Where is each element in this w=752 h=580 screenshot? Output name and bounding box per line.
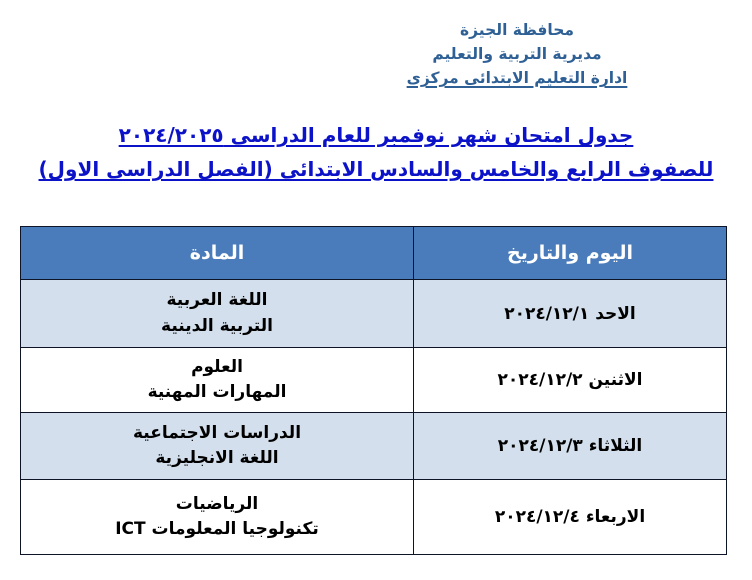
cell-date: الاثنين ٢٠٢٤/١٢/٢ xyxy=(414,348,727,413)
title-line-exam-schedule: جدول امتحان شهر نوفمبر للعام الدراسى ٢٠٢… xyxy=(0,118,752,152)
letterhead: محافظة الجيزة مديرية التربية والتعليم اد… xyxy=(307,18,727,90)
subject-line-primary: اللغة العربية xyxy=(27,288,407,313)
table-header-row: اليوم والتاريخ المادة xyxy=(21,227,727,280)
subject-line-primary: الرياضيات xyxy=(27,492,407,517)
cell-subject: الدراسات الاجتماعية اللغة الانجليزية xyxy=(21,413,414,480)
cell-subject: العلوم المهارات المهنية xyxy=(21,348,414,413)
letterhead-administration: ادارة التعليم الابتدائى مركزى xyxy=(307,66,727,90)
subject-line-secondary: تكنولوجيا المعلومات ICT xyxy=(27,517,407,542)
subject-line-primary: العلوم xyxy=(27,355,407,380)
cell-subject: اللغة العربية التربية الدينية xyxy=(21,280,414,348)
page-title: جدول امتحان شهر نوفمبر للعام الدراسى ٢٠٢… xyxy=(0,118,752,187)
table-row: الاثنين ٢٠٢٤/١٢/٢ العلوم المهارات المهني… xyxy=(21,348,727,413)
letterhead-directorate: مديرية التربية والتعليم xyxy=(307,42,727,66)
column-header-subject: المادة xyxy=(21,227,414,280)
title-line-grades: للصفوف الرابع والخامس والسادس الابتدائى … xyxy=(0,152,752,186)
table-row: الثلاثاء ٢٠٢٤/١٢/٣ الدراسات الاجتماعية ا… xyxy=(21,413,727,480)
table-row: الاربعاء ٢٠٢٤/١٢/٤ الرياضيات تكنولوجيا ا… xyxy=(21,480,727,555)
column-header-day-and-date: اليوم والتاريخ xyxy=(414,227,727,280)
letterhead-governorate: محافظة الجيزة xyxy=(307,18,727,42)
cell-date: الاحد ٢٠٢٤/١٢/١ xyxy=(414,280,727,348)
table-header: اليوم والتاريخ المادة xyxy=(21,227,727,280)
exam-schedule-table: اليوم والتاريخ المادة الاحد ٢٠٢٤/١٢/١ ال… xyxy=(20,226,727,555)
subject-line-secondary: التربية الدينية xyxy=(27,314,407,339)
cell-subject: الرياضيات تكنولوجيا المعلومات ICT xyxy=(21,480,414,555)
table-body: الاحد ٢٠٢٤/١٢/١ اللغة العربية التربية ال… xyxy=(21,280,727,555)
exam-schedule-table-container: اليوم والتاريخ المادة الاحد ٢٠٢٤/١٢/١ ال… xyxy=(21,226,727,555)
cell-date: الثلاثاء ٢٠٢٤/١٢/٣ xyxy=(414,413,727,480)
table-row: الاحد ٢٠٢٤/١٢/١ اللغة العربية التربية ال… xyxy=(21,280,727,348)
cell-date: الاربعاء ٢٠٢٤/١٢/٤ xyxy=(414,480,727,555)
subject-line-primary: الدراسات الاجتماعية xyxy=(27,421,407,446)
subject-line-secondary: المهارات المهنية xyxy=(27,380,407,405)
subject-line-secondary: اللغة الانجليزية xyxy=(27,446,407,471)
